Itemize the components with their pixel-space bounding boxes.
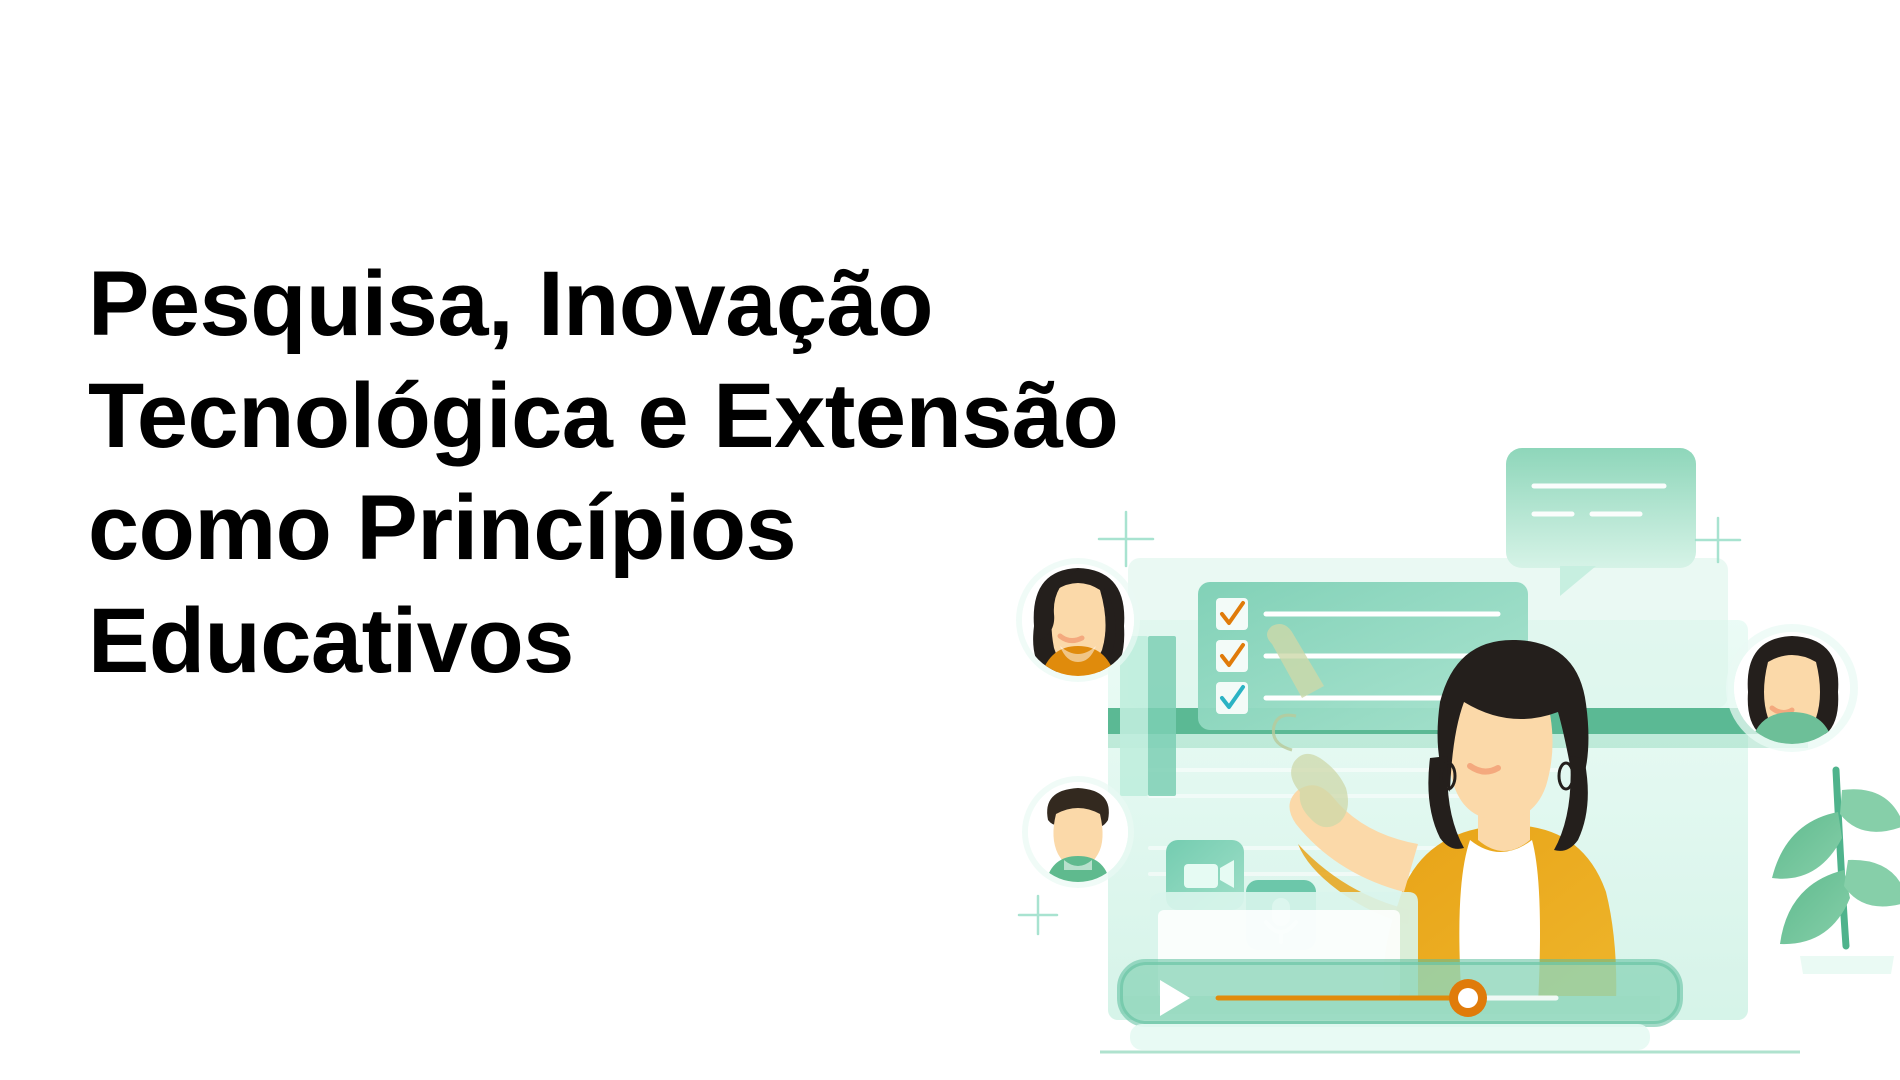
potted-plant — [1772, 770, 1900, 1046]
avatar-woman-green — [1726, 624, 1858, 756]
checklist-item-2 — [1216, 640, 1498, 672]
page-title: Pesquisa, Inovação Tecnológica e Extensã… — [88, 248, 1178, 697]
woman-pointing-figure — [1267, 624, 1616, 1004]
checklist-item-1 — [1216, 598, 1498, 630]
presentation-slide: Pesquisa, Inovação Tecnológica e Extensã… — [0, 0, 1900, 1080]
pointing-hand — [1267, 624, 1348, 827]
checklist-item-3 — [1216, 682, 1498, 714]
video-camera-icon — [1166, 840, 1244, 910]
progress-scrubber[interactable] — [1449, 979, 1487, 1017]
background-screens — [1108, 558, 1808, 1020]
sparkle-icon-2 — [1696, 518, 1740, 562]
message-bubble — [1506, 448, 1696, 596]
desk-base — [1100, 1024, 1800, 1052]
sparkle-icon-3 — [1019, 896, 1057, 934]
microphone-icon — [1246, 880, 1316, 950]
title-block: Pesquisa, Inovação Tecnológica e Extensã… — [88, 248, 1178, 697]
checklist-card — [1198, 582, 1528, 730]
avatar-boy-green — [1022, 776, 1134, 896]
play-triangle-icon[interactable] — [1160, 980, 1190, 1016]
video-player-bar[interactable] — [1120, 962, 1680, 1024]
laptop — [1120, 892, 1660, 1014]
